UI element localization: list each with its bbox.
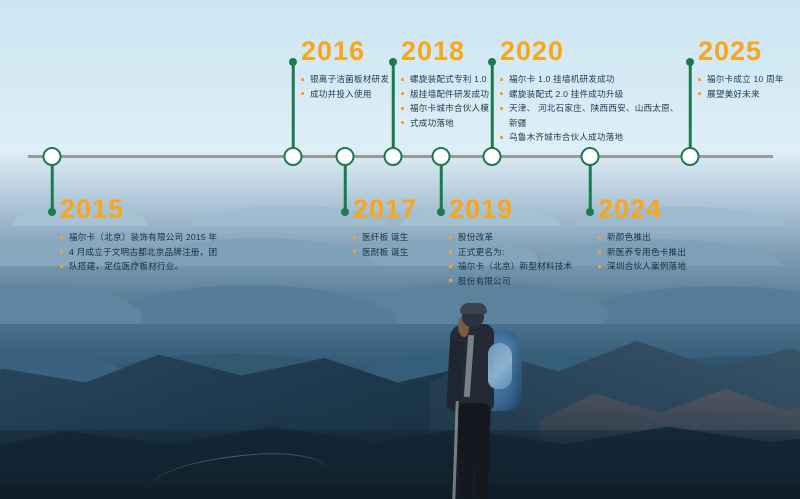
- timeline-node-2025[interactable]: [681, 147, 700, 166]
- year-label-2019: 2019: [449, 196, 589, 223]
- bullet-item: 深圳合伙人案例落地: [598, 259, 728, 274]
- backpack-panel: [488, 343, 512, 389]
- year-label-2024: 2024: [598, 196, 728, 223]
- timeline-entry-2017[interactable]: 2017 医纤板 诞生 医耐板 诞生: [353, 196, 441, 259]
- bullet-item-cont: 乌鲁木齐城市合伙人成功落地: [500, 130, 680, 145]
- bullet-item: 螺旋装配式专利 1.0: [401, 72, 493, 87]
- bullet-list-2025: 福尔卡成立 10 周年 展望美好未来: [698, 72, 794, 101]
- year-label-2015: 2015: [60, 196, 235, 223]
- timeline-node-2018[interactable]: [384, 147, 403, 166]
- bullet-item: 天津、 河北石家庄、陕西西安、山西太原、新疆: [500, 101, 680, 130]
- hiker-legs: [457, 403, 491, 499]
- timeline-node-2024[interactable]: [581, 147, 600, 166]
- hiker-figure: [438, 305, 548, 499]
- timeline-node-2017[interactable]: [336, 147, 355, 166]
- timeline-entry-2015[interactable]: 2015 福尔卡（北京）装饰有限公司 2015 年 4 月成立于文明古都北京品牌…: [60, 196, 235, 274]
- bullet-list-2019: 股份改革 正式更名为: 福尔卡（北京）新型材料技术 股份有限公司: [449, 230, 589, 288]
- bullet-item: 正式更名为:: [449, 245, 589, 260]
- timeline-node-2019[interactable]: [432, 147, 451, 166]
- timeline-stem-dot-2025: [686, 58, 694, 66]
- bullet-item: 螺旋装配式 2.0 挂件成功升级: [500, 87, 680, 102]
- bullet-item-cont: 队搭建，定位医疗板材行业。: [60, 259, 235, 274]
- bullet-item: 展望美好未来: [698, 87, 794, 102]
- bullet-list-2018: 螺旋装配式专利 1.0 版挂墙配件研发成功 福尔卡城市合伙人模 式成功落地: [401, 72, 493, 130]
- timeline-entry-2019[interactable]: 2019 股份改革 正式更名为: 福尔卡（北京）新型材料技术 股份有限公司: [449, 196, 589, 288]
- timeline-node-2015[interactable]: [43, 147, 62, 166]
- timeline-entry-2020[interactable]: 2020 福尔卡 1.0 挂墙机研发成功 螺旋装配式 2.0 挂件成功升级 天津…: [500, 38, 680, 145]
- year-label-2017: 2017: [353, 196, 441, 223]
- timeline-entry-2018[interactable]: 2018 螺旋装配式专利 1.0 版挂墙配件研发成功 福尔卡城市合伙人模 式成功…: [401, 38, 493, 130]
- bullet-list-2024: 新颜色推出 新医养专用色卡推出 深圳合伙人案例落地: [598, 230, 728, 274]
- timeline-stem-2025: [689, 62, 692, 157]
- bullet-item: 福尔卡（北京）装饰有限公司 2015 年: [60, 230, 235, 245]
- timeline-stem-2016: [292, 62, 295, 157]
- bullet-list-2020: 福尔卡 1.0 挂墙机研发成功 螺旋装配式 2.0 挂件成功升级 天津、 河北石…: [500, 72, 680, 145]
- bullet-item: 医纤板 诞生: [353, 230, 441, 245]
- bullet-item: 新医养专用色卡推出: [598, 245, 728, 260]
- bullet-item-cont: 福尔卡（北京）新型材料技术: [449, 259, 589, 274]
- bullet-item: 医耐板 诞生: [353, 245, 441, 260]
- bullet-item-cont: 4 月成立于文明古都北京品牌注册，团: [60, 245, 235, 260]
- bullet-item: 福尔卡成立 10 周年: [698, 72, 794, 87]
- timeline-entry-2025[interactable]: 2025 福尔卡成立 10 周年 展望美好未来: [698, 38, 794, 101]
- bullet-list-2015: 福尔卡（北京）装饰有限公司 2015 年 4 月成立于文明古都北京品牌注册，团 …: [60, 230, 235, 274]
- year-label-2025: 2025: [698, 38, 794, 65]
- timeline-node-2016[interactable]: [284, 147, 303, 166]
- timeline-entry-2016[interactable]: 2016 银离子洁菌板材研发 成功并投入使用: [301, 38, 393, 101]
- timeline-entry-2024[interactable]: 2024 新颜色推出 新医养专用色卡推出 深圳合伙人案例落地: [598, 196, 728, 274]
- timeline-stem-dot-2017: [341, 208, 349, 216]
- foreground-valley: [0, 430, 800, 499]
- bullet-item-cont: 版挂墙配件研发成功: [401, 87, 493, 102]
- bullet-item-cont: 式成功落地: [401, 116, 493, 131]
- trekking-pole: [452, 401, 458, 499]
- bullet-item: 福尔卡 1.0 挂墙机研发成功: [500, 72, 680, 87]
- bullet-item-cont: 股份有限公司: [449, 274, 589, 289]
- bullet-item: 福尔卡城市合伙人模: [401, 101, 493, 116]
- year-label-2020: 2020: [500, 38, 680, 65]
- year-label-2018: 2018: [401, 38, 493, 65]
- timeline-node-2020[interactable]: [483, 147, 502, 166]
- hiker-cap: [460, 303, 487, 314]
- bullet-list-2017: 医纤板 诞生 医耐板 诞生: [353, 230, 441, 259]
- bullet-item: 新颜色推出: [598, 230, 728, 245]
- bullet-item-cont: 成功并投入使用: [301, 87, 393, 102]
- bullet-item: 银离子洁菌板材研发: [301, 72, 393, 87]
- bullet-list-2016: 银离子洁菌板材研发 成功并投入使用: [301, 72, 393, 101]
- bullet-item: 股份改革: [449, 230, 589, 245]
- timeline-infographic: 2015 福尔卡（北京）装饰有限公司 2015 年 4 月成立于文明古都北京品牌…: [0, 0, 800, 499]
- year-label-2016: 2016: [301, 38, 393, 65]
- timeline-stem-dot-2015: [48, 208, 56, 216]
- timeline-stem-dot-2016: [289, 58, 297, 66]
